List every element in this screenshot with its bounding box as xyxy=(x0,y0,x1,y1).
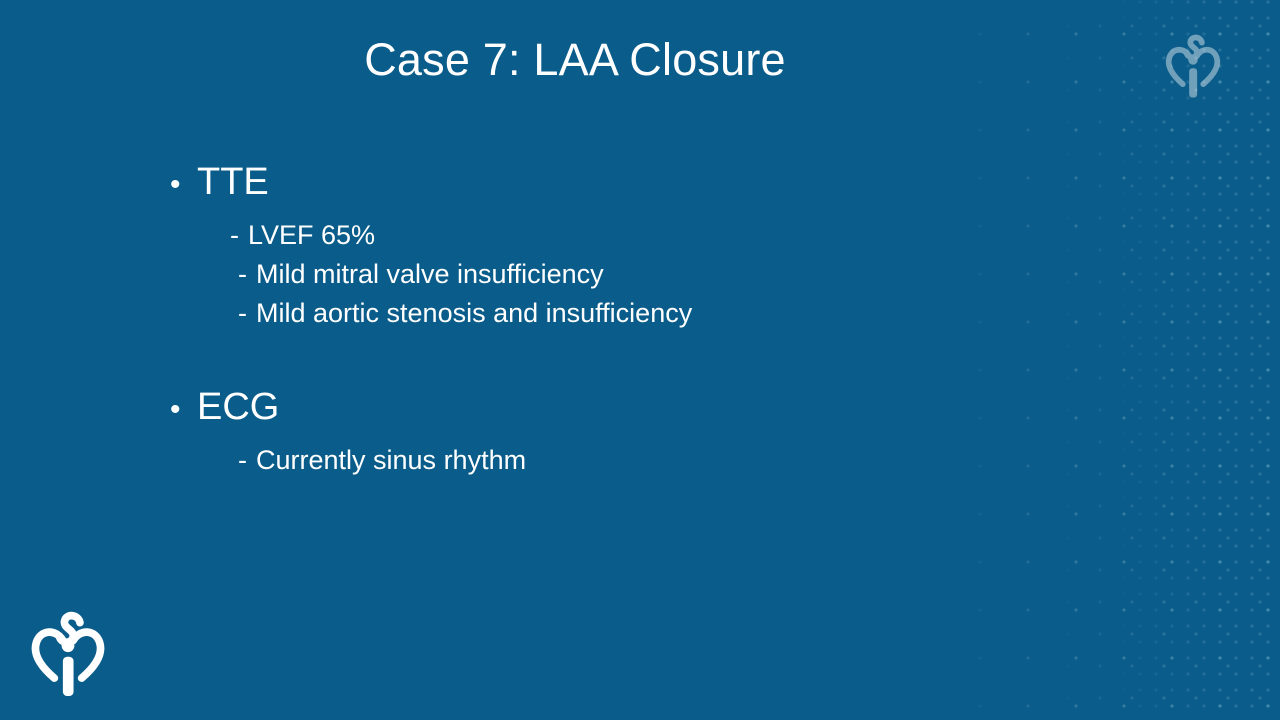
bullet-label: ECG xyxy=(197,385,279,430)
dash-icon: - xyxy=(238,298,247,328)
dash-icon: - xyxy=(230,220,239,250)
sub-bullet-text: LVEF 65% xyxy=(248,220,375,250)
heart-i-logo xyxy=(25,603,111,702)
heart-i-logo-watermark xyxy=(1161,28,1225,102)
slide-title: Case 7: LAA Closure xyxy=(0,34,1150,86)
content-group-ecg: • ECG -Currently sinus rhythm xyxy=(170,385,960,480)
content-group-tte: • TTE -LVEF 65% -Mild mitral valve insuf… xyxy=(170,160,960,332)
sub-bullet-item: -Mild mitral valve insufficiency xyxy=(238,255,960,294)
bullet-point-icon: • xyxy=(170,395,197,425)
dash-icon: - xyxy=(238,259,247,289)
dot-layer-medium xyxy=(950,0,1280,720)
sub-bullet-text: Mild aortic stenosis and insufficiency xyxy=(256,298,692,328)
slide-body: • TTE -LVEF 65% -Mild mitral valve insuf… xyxy=(170,160,960,480)
sub-bullet-item: -Mild aortic stenosis and insufficiency xyxy=(238,294,960,333)
bullet-point-icon: • xyxy=(170,170,197,200)
sub-bullet-text: Mild mitral valve insufficiency xyxy=(256,259,604,289)
bullet-label: TTE xyxy=(197,160,269,205)
sub-bullet-item: -Currently sinus rhythm xyxy=(238,441,960,480)
dash-icon: - xyxy=(238,445,247,475)
sub-list-tte: -LVEF 65% -Mild mitral valve insufficien… xyxy=(170,216,960,333)
sub-bullet-item: -LVEF 65% xyxy=(230,216,960,255)
dot-layer-dense xyxy=(950,0,1280,720)
sub-bullet-text: Currently sinus rhythm xyxy=(256,445,526,475)
dot-layer-sparse xyxy=(950,0,1280,720)
decorative-dot-pattern xyxy=(950,0,1280,720)
bullet-item-tte: • TTE xyxy=(170,160,960,205)
sub-list-ecg: -Currently sinus rhythm xyxy=(170,441,960,480)
bullet-item-ecg: • ECG xyxy=(170,385,960,430)
slide-canvas: Case 7: LAA Closure • TTE -LVEF 65% -Mil… xyxy=(0,0,1280,720)
